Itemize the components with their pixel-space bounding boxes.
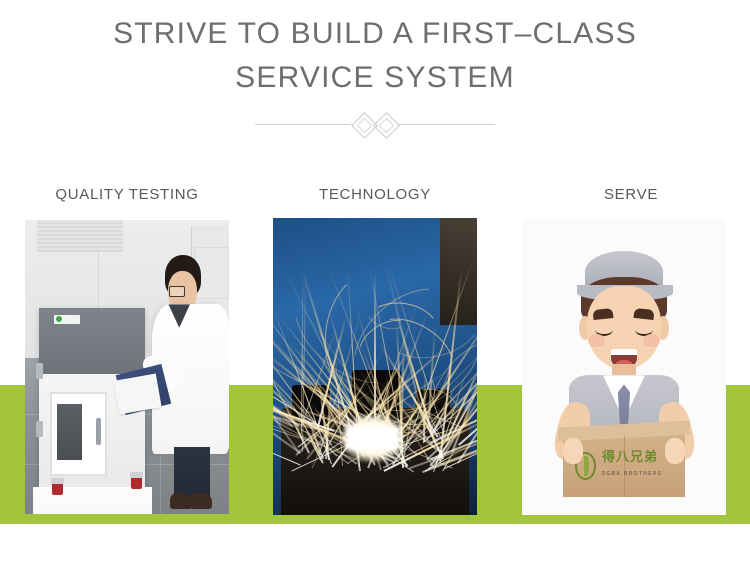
chamber-hinge [36, 421, 43, 437]
delivery-man-cheek [588, 334, 604, 348]
diamond-inner-left [357, 118, 373, 134]
column-quality-testing: QUALITY TESTING [2, 185, 252, 205]
lab-window-blind [37, 220, 123, 252]
divider-rule-right [399, 124, 495, 125]
delivery-man-illustration: 得八兄弟 DEBA BROTHERS [522, 218, 726, 515]
technician-shoe [190, 493, 212, 509]
brand-name-en: DEBA BROTHERS [602, 471, 662, 477]
technician-shoe [170, 493, 192, 509]
photo-serve: 得八兄弟 DEBA BROTHERS [522, 218, 726, 515]
delivery-man-hand [563, 438, 583, 465]
chamber-door [50, 392, 107, 476]
delivery-man-hand [665, 438, 685, 465]
lab-scene-illustration [25, 220, 229, 514]
divider-rule-left [255, 124, 351, 125]
diamond-icon-right [373, 112, 400, 139]
chamber-brand-logo [54, 315, 80, 324]
column-serve: SERVE [506, 185, 750, 205]
delivery-man-eyebrow [593, 308, 614, 320]
welding-scene-illustration [273, 218, 477, 515]
column-label-technology: TECHNOLOGY [250, 185, 500, 205]
chamber-caster [131, 476, 142, 489]
technician-legs [174, 447, 210, 499]
diamond-inner-right [379, 118, 395, 134]
column-label-quality-testing: QUALITY TESTING [2, 185, 252, 205]
photo-quality-testing [25, 220, 229, 514]
glasses-icon [169, 286, 184, 297]
chamber-hinge [36, 363, 43, 379]
box-seam [624, 435, 625, 497]
column-label-serve: SERVE [506, 185, 750, 205]
welding-hotspot [346, 426, 399, 450]
lab-technician [143, 255, 229, 514]
ornamental-divider [255, 112, 495, 138]
spark-field [273, 218, 477, 515]
promo-banner: STRIVE TO BUILD A FIRST–CLASS SERVICE SY… [0, 0, 750, 569]
chamber-caster [52, 482, 63, 495]
column-technology: TECHNOLOGY [250, 185, 500, 205]
brand-name-cn: 得八兄弟 [602, 451, 658, 464]
chamber-window [57, 404, 81, 460]
chamber-handle [96, 418, 101, 445]
delivery-man-cheek [643, 334, 659, 348]
page-title: STRIVE TO BUILD A FIRST–CLASS SERVICE SY… [0, 12, 750, 100]
chamber-base [33, 487, 152, 514]
photo-technology [273, 218, 477, 515]
chamber-top-panel [39, 308, 145, 374]
delivery-man-teeth [611, 349, 638, 356]
